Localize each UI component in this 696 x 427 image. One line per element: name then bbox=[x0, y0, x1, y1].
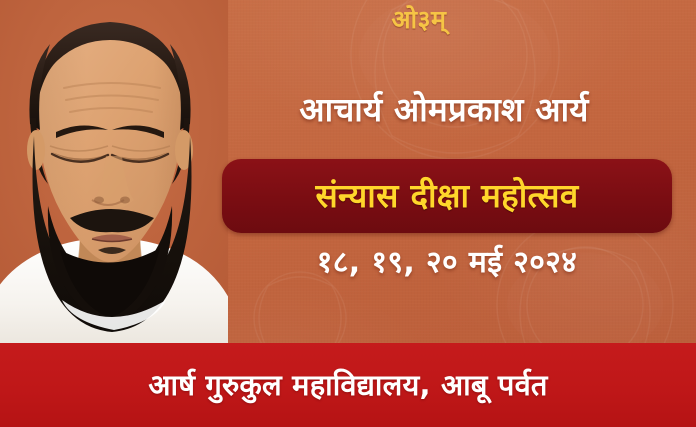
event-banner: संन्यास दीक्षा महोत्सव bbox=[222, 159, 672, 233]
event-dates: १८, १९, २० मई २०२४ bbox=[222, 243, 672, 283]
page-title: आचार्य ओमप्रकाश आर्य bbox=[200, 88, 688, 132]
poster-root: ओ३म् आचार्य ओमप्रकाश आर्य संन्यास दीक्षा… bbox=[0, 0, 696, 427]
venue-label: आर्ष गुरुकुल महाविद्यालय, आबू पर्वत bbox=[148, 365, 547, 405]
om-glyph: ओ३म् bbox=[249, 5, 446, 34]
event-banner-label: संन्यास दीक्षा महोत्सव bbox=[315, 174, 578, 218]
om-text: ओ३म् bbox=[0, 2, 696, 38]
portrait-photo bbox=[0, 0, 228, 347]
footer-bar: आर्ष गुरुकुल महाविद्यालय, आबू पर्वत bbox=[0, 343, 696, 427]
